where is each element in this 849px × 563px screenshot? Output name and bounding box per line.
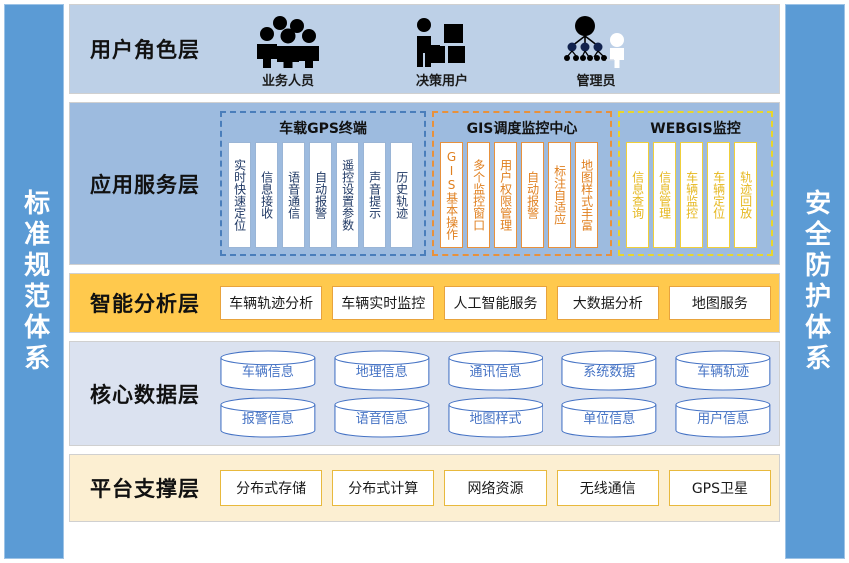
- user-roles-items: 业务人员 决策用户: [220, 9, 779, 89]
- layer-user-roles: 用户角色层: [69, 4, 780, 94]
- app-cell[interactable]: 地图样式丰富: [575, 142, 598, 248]
- app-cell-label: 语音通信: [286, 171, 300, 219]
- app-cell-label: 信息接收: [259, 171, 273, 219]
- database-cylinder[interactable]: 车辆轨迹: [675, 350, 771, 391]
- platform-chip[interactable]: 无线通信: [557, 470, 659, 506]
- app-cell[interactable]: GIS基本操作: [440, 142, 463, 248]
- database-cylinder-label: 车辆轨迹: [697, 361, 749, 380]
- layer-core-data: 核心数据层 车辆信息 地理信息 通讯信息: [69, 341, 780, 446]
- platform-support-items: 分布式存储 分布式计算 网络资源 无线通信 GPS卫星: [220, 470, 779, 506]
- app-group-webgis-monitoring-title: WEBGIS监控: [626, 117, 765, 142]
- database-cylinder-label: 语音信息: [356, 408, 408, 427]
- analysis-chip[interactable]: 大数据分析: [557, 286, 659, 320]
- left-sidebar-standard-system: 标准规范体系: [4, 4, 64, 559]
- app-cell-label: 声音提示: [367, 171, 381, 219]
- app-cell-label: 用户权限管理: [498, 159, 512, 231]
- role-administrator-label: 管理员: [576, 70, 615, 89]
- app-cell[interactable]: 信息查询: [626, 142, 649, 248]
- app-cell[interactable]: 实时快速定位: [228, 142, 251, 248]
- org-hierarchy-icon: [561, 14, 631, 68]
- platform-chip[interactable]: 分布式存储: [220, 470, 322, 506]
- database-cylinder[interactable]: 地理信息: [334, 350, 430, 391]
- core-data-row-2: 报警信息 语音信息 地图样式 单位信息: [220, 397, 771, 438]
- core-data-row-1: 车辆信息 地理信息 通讯信息 系统数据: [220, 350, 771, 391]
- database-cylinder-label: 车辆信息: [242, 361, 294, 380]
- app-cell-label: 实时快速定位: [232, 159, 246, 231]
- app-cell[interactable]: 标注自适应: [548, 142, 571, 248]
- app-cell[interactable]: 自动报警: [309, 142, 332, 248]
- analysis-chip[interactable]: 车辆实时监控: [332, 286, 434, 320]
- platform-chip-label: 网络资源: [468, 478, 524, 498]
- app-group-vehicle-gps-terminal-title: 车载GPS终端: [228, 117, 418, 142]
- architecture-diagram: 标准规范体系 用户角色层: [0, 0, 849, 563]
- app-cell[interactable]: 信息管理: [653, 142, 676, 248]
- database-cylinder[interactable]: 车辆信息: [220, 350, 316, 391]
- analysis-chip[interactable]: 车辆轨迹分析: [220, 286, 322, 320]
- database-cylinder-label: 地图样式: [469, 408, 521, 427]
- app-cell[interactable]: 历史轨迹: [390, 142, 413, 248]
- platform-chip-label: 分布式计算: [348, 478, 418, 498]
- database-cylinder-label: 报警信息: [242, 408, 294, 427]
- platform-chip[interactable]: GPS卫星: [669, 470, 771, 506]
- layer-intelligent-analysis: 智能分析层 车辆轨迹分析 车辆实时监控 人工智能服务 大数据分析 地图服务: [69, 273, 780, 333]
- database-cylinder-label: 通讯信息: [469, 361, 521, 380]
- database-cylinder-label: 系统数据: [583, 361, 635, 380]
- application-groups: 车载GPS终端 实时快速定位 信息接收 语音通信 自动报警 遥控设置参数 声音提…: [220, 103, 779, 264]
- people-group-icon: [252, 14, 324, 68]
- layers-stack: 用户角色层: [69, 4, 780, 559]
- database-cylinder[interactable]: 地图样式: [448, 397, 544, 438]
- right-sidebar-label: 安全防护体系: [801, 189, 828, 375]
- role-decision-user[interactable]: 决策用户: [386, 9, 498, 89]
- database-cylinder[interactable]: 系统数据: [561, 350, 657, 391]
- app-cell-label: GIS基本操作: [444, 150, 458, 240]
- layer-intelligent-analysis-title: 智能分析层: [70, 288, 220, 318]
- analysis-chip-label: 车辆轨迹分析: [229, 293, 313, 313]
- app-cell-label: 自动报警: [313, 171, 327, 219]
- layer-application-services: 应用服务层 车载GPS终端 实时快速定位 信息接收 语音通信 自动报警 遥控设置…: [69, 102, 780, 265]
- role-business-staff-label: 业务人员: [262, 70, 314, 89]
- app-cell-label: 遥控设置参数: [340, 159, 354, 231]
- layer-core-data-title: 核心数据层: [70, 379, 220, 409]
- analysis-chip[interactable]: 地图服务: [669, 286, 771, 320]
- app-cell[interactable]: 用户权限管理: [494, 142, 517, 248]
- analysis-chip[interactable]: 人工智能服务: [444, 286, 546, 320]
- database-cylinder-label: 地理信息: [356, 361, 408, 380]
- database-cylinder[interactable]: 单位信息: [561, 397, 657, 438]
- role-decision-user-label: 决策用户: [416, 70, 468, 89]
- database-cylinder[interactable]: 用户信息: [675, 397, 771, 438]
- analysis-chip-label: 大数据分析: [573, 293, 643, 313]
- intelligent-analysis-items: 车辆轨迹分析 车辆实时监控 人工智能服务 大数据分析 地图服务: [220, 286, 779, 320]
- app-group-gis-dispatch-center-title: GIS调度监控中心: [440, 117, 604, 142]
- platform-chip[interactable]: 网络资源: [444, 470, 546, 506]
- app-cell[interactable]: 自动报警: [521, 142, 544, 248]
- app-group-gis-dispatch-center-cells: GIS基本操作 多个监控窗口 用户权限管理 自动报警 标注自适应 地图样式丰富: [440, 142, 604, 248]
- app-cell[interactable]: 信息接收: [255, 142, 278, 248]
- app-cell[interactable]: 语音通信: [282, 142, 305, 248]
- app-cell-label: 标注自适应: [552, 165, 566, 225]
- app-cell[interactable]: 车辆定位: [707, 142, 730, 248]
- database-cylinder-label: 单位信息: [583, 408, 635, 427]
- app-cell-label: 车辆监控: [684, 171, 698, 219]
- core-data-items: 车辆信息 地理信息 通讯信息 系统数据: [220, 342, 779, 446]
- database-cylinder[interactable]: 语音信息: [334, 397, 430, 438]
- person-blocks-icon: [411, 14, 473, 68]
- app-cell-label: 信息管理: [657, 171, 671, 219]
- database-cylinder[interactable]: 通讯信息: [448, 350, 544, 391]
- layer-platform-support-title: 平台支撑层: [70, 473, 220, 503]
- app-cell-label: 车辆定位: [711, 171, 725, 219]
- app-cell[interactable]: 轨迹回放: [734, 142, 757, 248]
- app-cell[interactable]: 遥控设置参数: [336, 142, 359, 248]
- role-business-staff[interactable]: 业务人员: [232, 9, 344, 89]
- app-cell-label: 自动报警: [525, 171, 539, 219]
- analysis-chip-label: 地图服务: [692, 293, 748, 313]
- platform-chip-label: 分布式存储: [236, 478, 306, 498]
- app-cell-label: 历史轨迹: [394, 171, 408, 219]
- layer-application-services-title: 应用服务层: [70, 103, 220, 264]
- app-group-vehicle-gps-terminal-cells: 实时快速定位 信息接收 语音通信 自动报警 遥控设置参数 声音提示 历史轨迹: [228, 142, 418, 248]
- app-cell-label: 信息查询: [630, 171, 644, 219]
- platform-chip-label: 无线通信: [580, 478, 636, 498]
- app-group-gis-dispatch-center: GIS调度监控中心 GIS基本操作 多个监控窗口 用户权限管理 自动报警 标注自…: [432, 111, 612, 256]
- layer-platform-support: 平台支撑层 分布式存储 分布式计算 网络资源 无线通信 GPS卫星: [69, 454, 780, 522]
- database-cylinder-label: 用户信息: [697, 408, 749, 427]
- platform-chip[interactable]: 分布式计算: [332, 470, 434, 506]
- app-cell-label: 多个监控窗口: [471, 159, 485, 231]
- database-cylinder[interactable]: 报警信息: [220, 397, 316, 438]
- app-cell[interactable]: 车辆监控: [680, 142, 703, 248]
- app-cell-label: 地图样式丰富: [579, 159, 593, 231]
- app-group-vehicle-gps-terminal: 车载GPS终端 实时快速定位 信息接收 语音通信 自动报警 遥控设置参数 声音提…: [220, 111, 426, 256]
- analysis-chip-label: 车辆实时监控: [341, 293, 425, 313]
- app-cell[interactable]: 声音提示: [363, 142, 386, 248]
- app-cell[interactable]: 多个监控窗口: [467, 142, 490, 248]
- left-sidebar-label: 标准规范体系: [20, 189, 47, 375]
- app-group-webgis-monitoring-cells: 信息查询 信息管理 车辆监控 车辆定位 轨迹回放: [626, 142, 765, 248]
- analysis-chip-label: 人工智能服务: [454, 293, 538, 313]
- layer-user-roles-title: 用户角色层: [70, 34, 220, 64]
- role-administrator[interactable]: 管理员: [540, 9, 652, 89]
- app-cell-label: 轨迹回放: [738, 171, 752, 219]
- app-group-webgis-monitoring: WEBGIS监控 信息查询 信息管理 车辆监控 车辆定位 轨迹回放: [618, 111, 773, 256]
- right-sidebar-security-system: 安全防护体系: [785, 4, 845, 559]
- platform-chip-label: GPS卫星: [692, 478, 748, 498]
